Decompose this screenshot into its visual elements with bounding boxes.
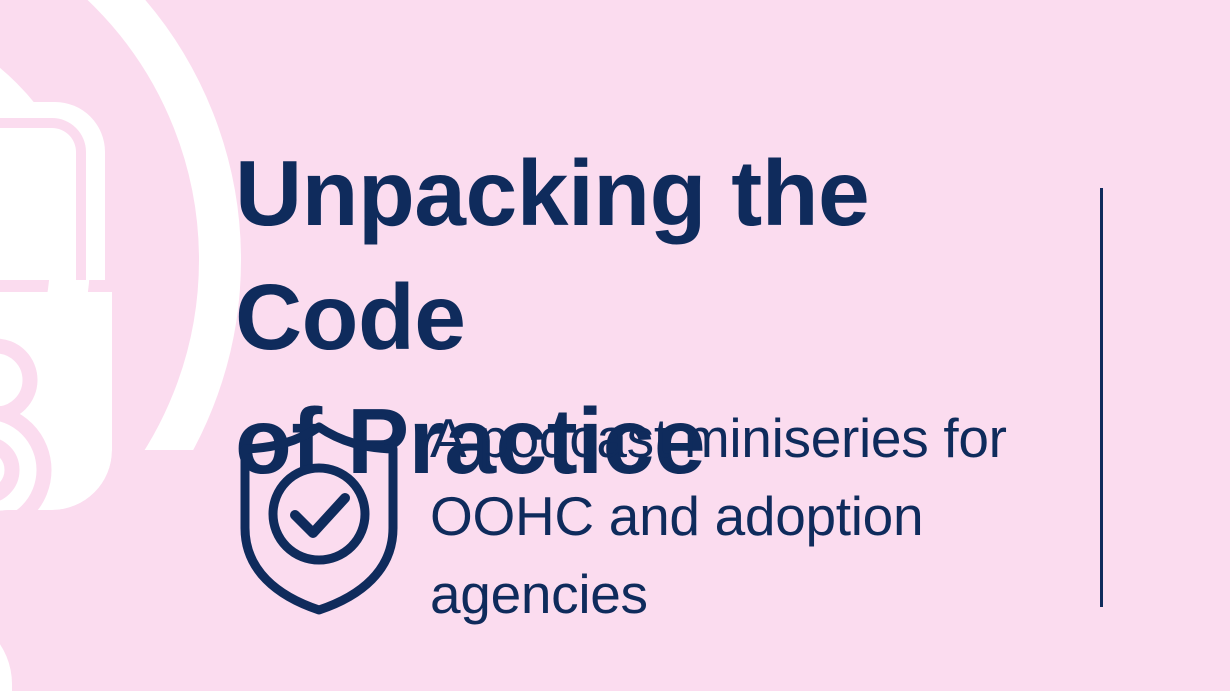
microphone-head-inner-gap [0,118,86,280]
sound-wave-arc-inner [0,30,70,490]
microphone-foot-curve [0,612,12,691]
microphone-grille-ring-top [0,346,30,414]
podcast-title-slide: Unpacking the Code of Practice A podcast… [0,0,1230,691]
sound-wave-arc-outer [0,0,220,640]
microphone-head-outline [0,102,105,280]
microphone-grille-ring-outer [0,412,44,528]
shield-check-icon [233,420,405,616]
vertical-divider [1100,188,1103,607]
shield-outline [245,427,393,610]
check-circle-outline [273,468,365,560]
microphone-grille-ring-inner [0,444,12,496]
microphone-foot-shadow [0,604,50,691]
microphone-body [0,292,112,691]
page-subtitle: A podcast miniseries for OOHC and adopti… [430,399,1080,633]
checkmark-glyph [295,498,345,533]
